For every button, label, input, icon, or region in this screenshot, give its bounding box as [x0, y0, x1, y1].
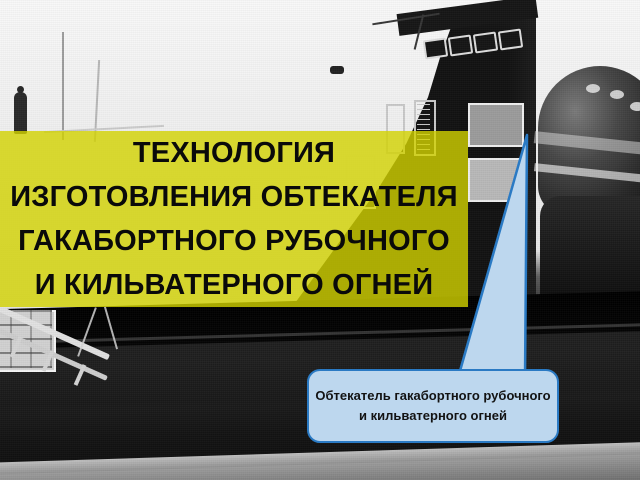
rescue-chamber-port	[630, 102, 640, 111]
dock-mast	[62, 32, 64, 140]
callout-label: Обтекатель гакабортного рубочного и киль…	[315, 386, 551, 426]
standing-person	[14, 92, 27, 134]
slide-title: ТЕХНОЛОГИЯ ИЗГОТОВЛЕНИЯ ОБТЕКАТЕЛЯ ГАКАБ…	[0, 131, 468, 307]
bridge-notch	[423, 37, 448, 59]
callout-box: Обтекатель гакабортного рубочного и киль…	[307, 369, 559, 443]
rescue-chamber-port	[610, 90, 624, 99]
bridge-notch	[498, 28, 523, 50]
bridge-notch	[448, 34, 473, 56]
sail-fitting	[330, 66, 344, 74]
title-line-2: ИЗГОТОВЛЕНИЯ ОБТЕКАТЕЛЯ	[10, 175, 458, 219]
slide-canvas: ТЕХНОЛОГИЯ ИЗГОТОВЛЕНИЯ ОБТЕКАТЕЛЯ ГАКАБ…	[0, 0, 640, 480]
rescue-chamber-port	[586, 84, 600, 93]
title-line-1: ТЕХНОЛОГИЯ	[133, 131, 335, 175]
title-line-3: ГАКАБОРТНОГО РУБОЧНОГО	[18, 219, 450, 263]
bridge-notch	[473, 31, 498, 53]
title-line-4: И КИЛЬВАТЕРНОГО ОГНЕЙ	[35, 263, 434, 307]
standing-person-head	[17, 86, 24, 93]
